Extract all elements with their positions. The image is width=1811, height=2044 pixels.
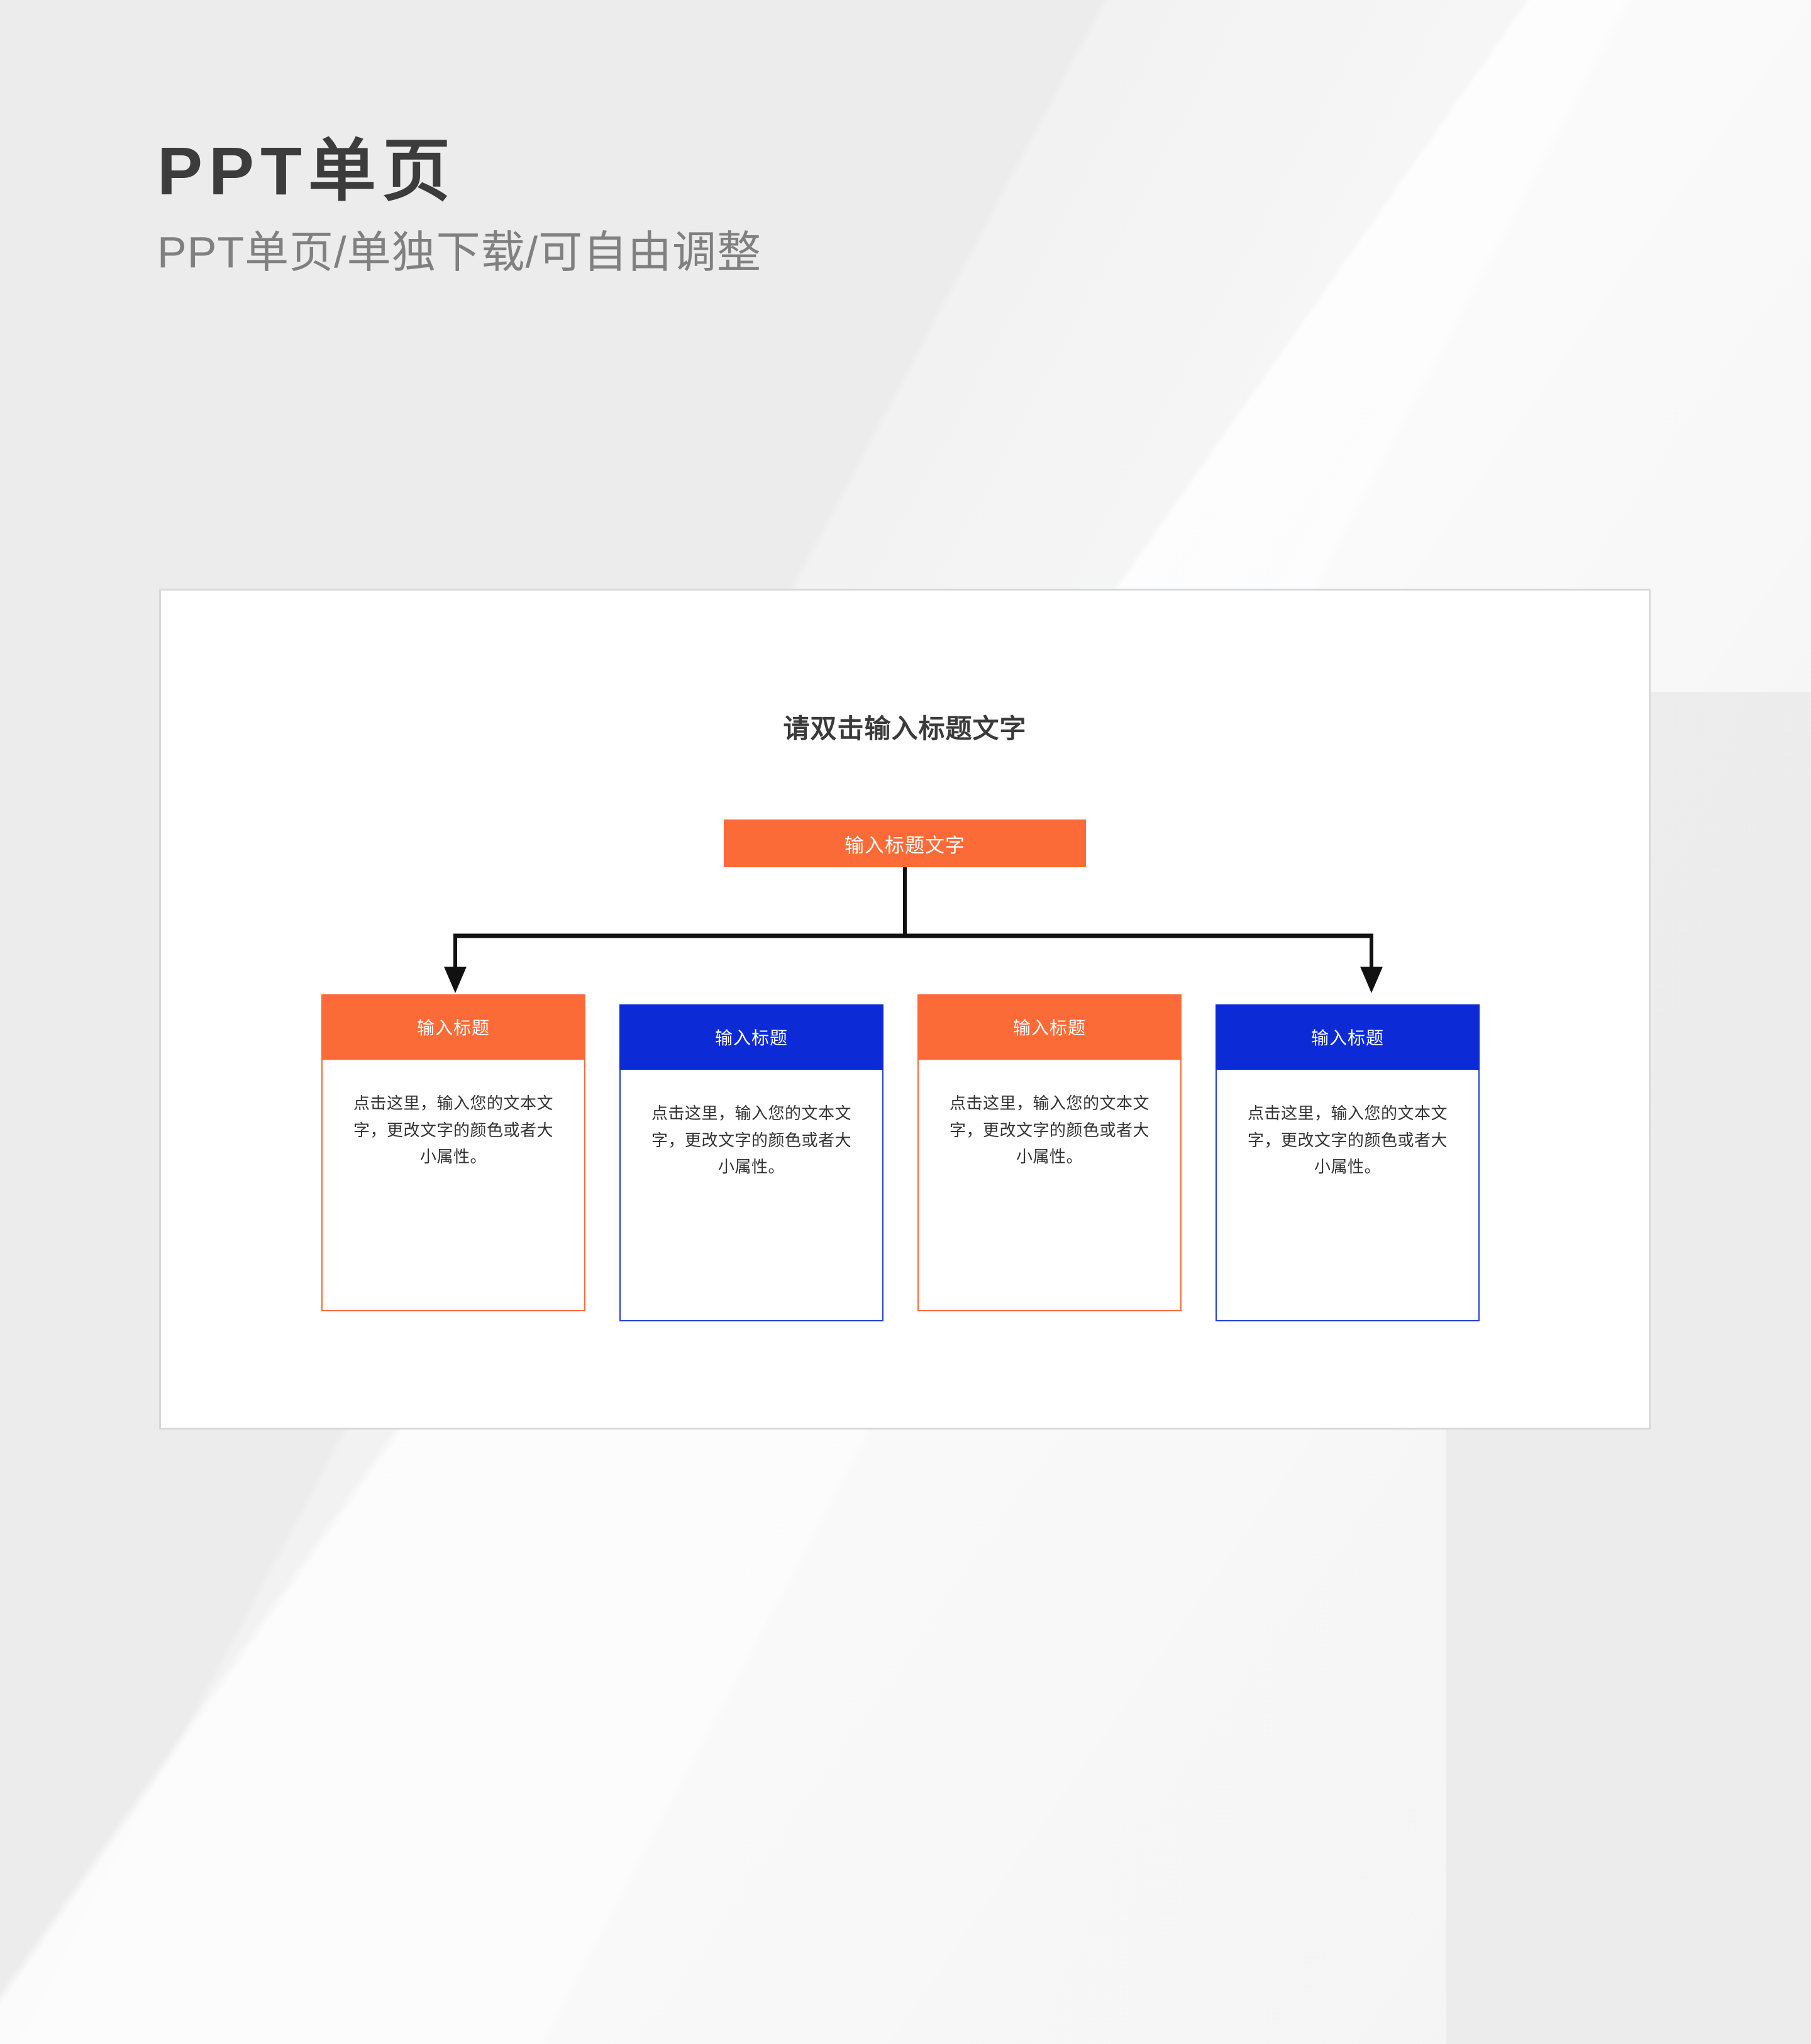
cards-row: 输入标题 点击这里，输入您的文本文字，更改文字的颜色或者大小属性。 输入标题 点…: [321, 991, 1491, 1393]
root-title-box[interactable]: 输入标题文字: [724, 819, 1086, 867]
info-card[interactable]: 输入标题 点击这里，输入您的文本文字，更改文字的颜色或者大小属性。: [1216, 1004, 1480, 1321]
info-card[interactable]: 输入标题 点击这里，输入您的文本文字，更改文字的颜色或者大小属性。: [917, 994, 1182, 1311]
info-card[interactable]: 输入标题 点击这里，输入您的文本文字，更改文字的颜色或者大小属性。: [619, 1004, 883, 1321]
info-card-body: 点击这里，输入您的文本文字，更改文字的颜色或者大小属性。: [1216, 1070, 1480, 1321]
info-card-body-text: 点击这里，输入您的文本文字，更改文字的颜色或者大小属性。: [946, 1090, 1153, 1170]
info-card-header: 输入标题: [917, 994, 1182, 1060]
info-card-body-text: 点击这里，输入您的文本文字，更改文字的颜色或者大小属性。: [1244, 1100, 1451, 1180]
info-card-body: 点击这里，输入您的文本文字，更改文字的颜色或者大小属性。: [321, 1060, 585, 1311]
info-card-header: 输入标题: [1216, 1004, 1480, 1070]
info-card-body: 点击这里，输入您的文本文字，更改文字的颜色或者大小属性。: [619, 1070, 883, 1321]
slide-title: 请双击输入标题文字: [161, 708, 1649, 746]
info-card-header-label: 输入标题: [1013, 1014, 1086, 1040]
info-card-header: 输入标题: [619, 1004, 883, 1070]
page-subtitle: PPT单页/单独下载/可自由调整: [157, 226, 762, 279]
info-card[interactable]: 输入标题 点击这里，输入您的文本文字，更改文字的颜色或者大小属性。: [321, 994, 585, 1311]
info-card-header: 输入标题: [321, 994, 585, 1060]
root-title-box-label: 输入标题文字: [845, 830, 965, 858]
info-card-body-text: 点击这里，输入您的文本文字，更改文字的颜色或者大小属性。: [350, 1090, 557, 1170]
info-card-body-text: 点击这里，输入您的文本文字，更改文字的颜色或者大小属性。: [648, 1100, 855, 1180]
info-card-header-label: 输入标题: [1311, 1025, 1384, 1050]
info-card-body: 点击这里，输入您的文本文字，更改文字的颜色或者大小属性。: [917, 1060, 1182, 1311]
page-header: PPT单页 PPT单页/单独下载/可自由调整: [157, 133, 762, 279]
info-card-header-label: 输入标题: [715, 1025, 788, 1050]
page-title: PPT单页: [157, 133, 762, 209]
info-card-header-label: 输入标题: [417, 1014, 490, 1040]
slide-panel: 请双击输入标题文字 输入标题文字 输入标题 点击这里，输入您的文本文字，更改文字…: [159, 589, 1651, 1430]
